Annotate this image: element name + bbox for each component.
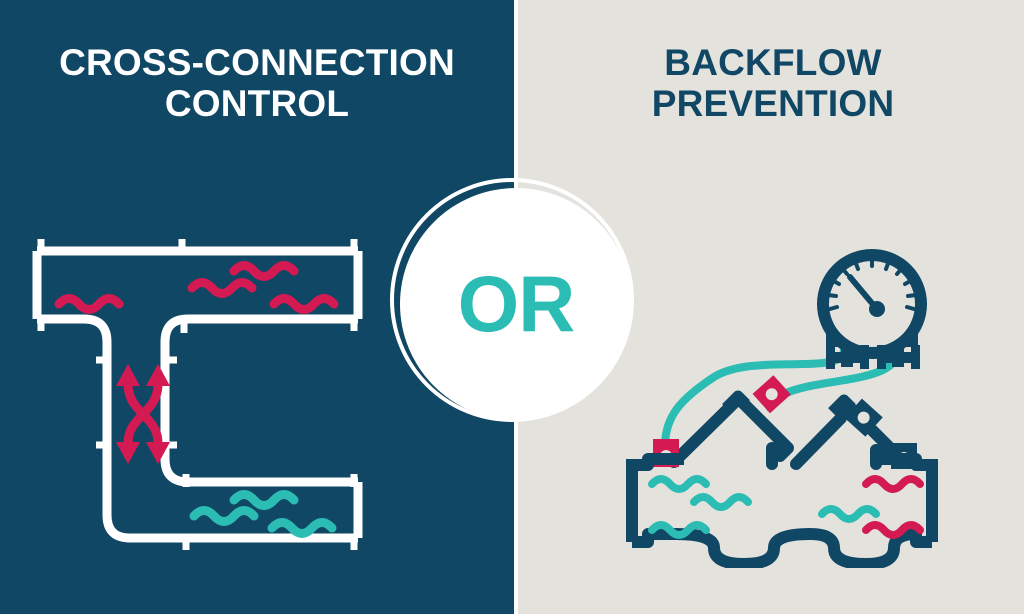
gauge-foot-right-cap-a	[877, 345, 886, 369]
cross-connection-pipes-diagram	[22, 238, 382, 568]
gauge-foot-left-cap-b	[860, 345, 869, 369]
left-title-line-2: CONTROL	[30, 83, 484, 124]
infographic-canvas: CROSS-CONNECTION CONTROL BACKFLOW PREVEN…	[0, 0, 1024, 614]
differential-pressure-gauge	[823, 255, 921, 369]
left-panel-title: CROSS-CONNECTION CONTROL	[30, 42, 484, 125]
backflow-cross-arrows	[128, 384, 158, 443]
gauge-foot-right-cap-b	[911, 345, 920, 369]
arrowhead-up-left	[116, 364, 140, 386]
pipe-outline-group	[37, 251, 358, 538]
right-title-line-1: BACKFLOW	[560, 42, 986, 83]
left-title-line-1: CROSS-CONNECTION	[30, 42, 484, 83]
test-cock-middle	[754, 377, 789, 412]
arrowhead-down-left	[116, 442, 140, 464]
crimson-wave-2	[192, 283, 252, 294]
gauge-foot-left-cap-a	[826, 345, 835, 369]
right-panel-title: BACKFLOW PREVENTION	[560, 42, 986, 125]
linkage-right-mountain	[796, 402, 892, 464]
crimson-wave-3	[234, 266, 294, 277]
backflow-preventer-assembly	[604, 212, 960, 568]
riser-left-wall	[84, 319, 358, 538]
or-badge: OR	[390, 178, 642, 430]
riser-right-wall	[165, 319, 358, 482]
teal-wave-2	[234, 495, 294, 506]
assembly-body	[632, 459, 932, 564]
right-title-line-2: PREVENTION	[560, 83, 986, 124]
body-top-deck-left	[632, 459, 684, 465]
crimson-wave-1	[59, 299, 119, 310]
assembly-water-waves	[652, 479, 920, 535]
body-top-deck-right	[880, 459, 932, 465]
contaminated-water-waves	[59, 266, 334, 310]
or-badge-label: OR	[400, 188, 632, 420]
teal-body-wave-4	[822, 509, 876, 519]
crimson-wave-4	[274, 299, 334, 310]
teal-body-wave-2	[694, 497, 748, 507]
crimson-body-wave-1	[866, 479, 920, 489]
teal-wave-1	[194, 511, 254, 522]
hose-left	[665, 350, 844, 444]
teal-wave-3	[272, 523, 332, 534]
potable-water-waves	[194, 495, 332, 534]
teal-body-wave-1	[652, 479, 706, 489]
